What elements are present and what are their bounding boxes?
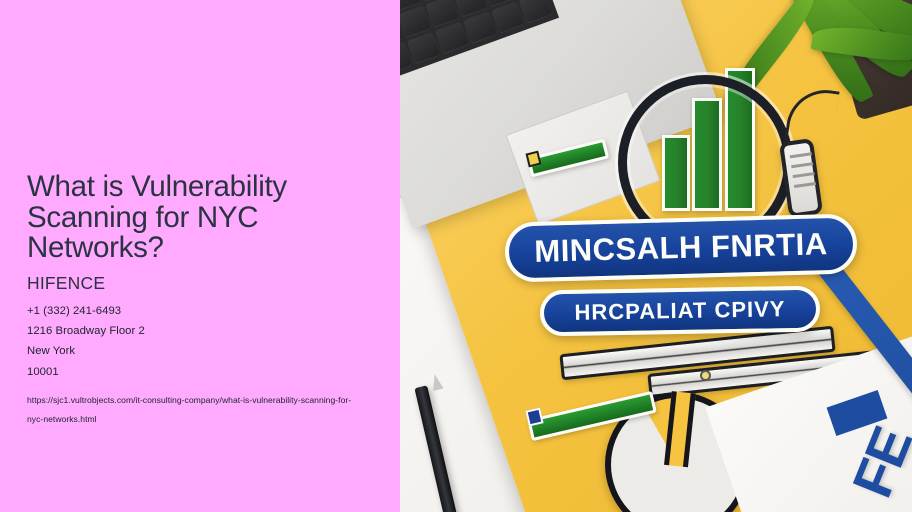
source-url[interactable]: https://sjc1.vultrobjects.com/it-consult… <box>27 391 353 429</box>
contact-address: 1216 Broadway Floor 2 <box>27 321 367 341</box>
illustration-panel: FE MINCSALH FNRTIA HRCPALIAT CPIVY <box>400 0 912 512</box>
page-root: What is Vulnerability Scanning for NYC N… <box>0 0 912 512</box>
banner-primary: MINCSALH FNRTIA <box>504 213 857 282</box>
contact-zip: 10001 <box>27 362 367 382</box>
contact-city: New York <box>27 341 367 361</box>
keyboard-key[interactable] <box>435 21 469 54</box>
text-block: What is Vulnerability Scanning for NYC N… <box>27 172 367 429</box>
device-detail-line <box>794 182 816 188</box>
device-detail-line <box>793 172 815 178</box>
keyboard-key[interactable] <box>407 32 441 65</box>
page-title: What is Vulnerability Scanning for NYC N… <box>27 172 337 264</box>
brand-name: HIFENCE <box>27 273 367 294</box>
small-circle-detail <box>700 370 711 381</box>
device-detail-line <box>790 152 812 158</box>
left-text-panel: What is Vulnerability Scanning for NYC N… <box>0 0 400 512</box>
banner-secondary: HRCPALIAT CPIVY <box>540 286 821 337</box>
keyboard-key[interactable] <box>463 11 497 44</box>
contact-phone: +1 (332) 241-6493 <box>27 301 367 321</box>
keyboard-key[interactable] <box>519 0 553 24</box>
keyboard-key[interactable] <box>491 1 525 34</box>
highlighter-tip-blue <box>525 408 543 427</box>
device-detail-line <box>791 162 813 168</box>
